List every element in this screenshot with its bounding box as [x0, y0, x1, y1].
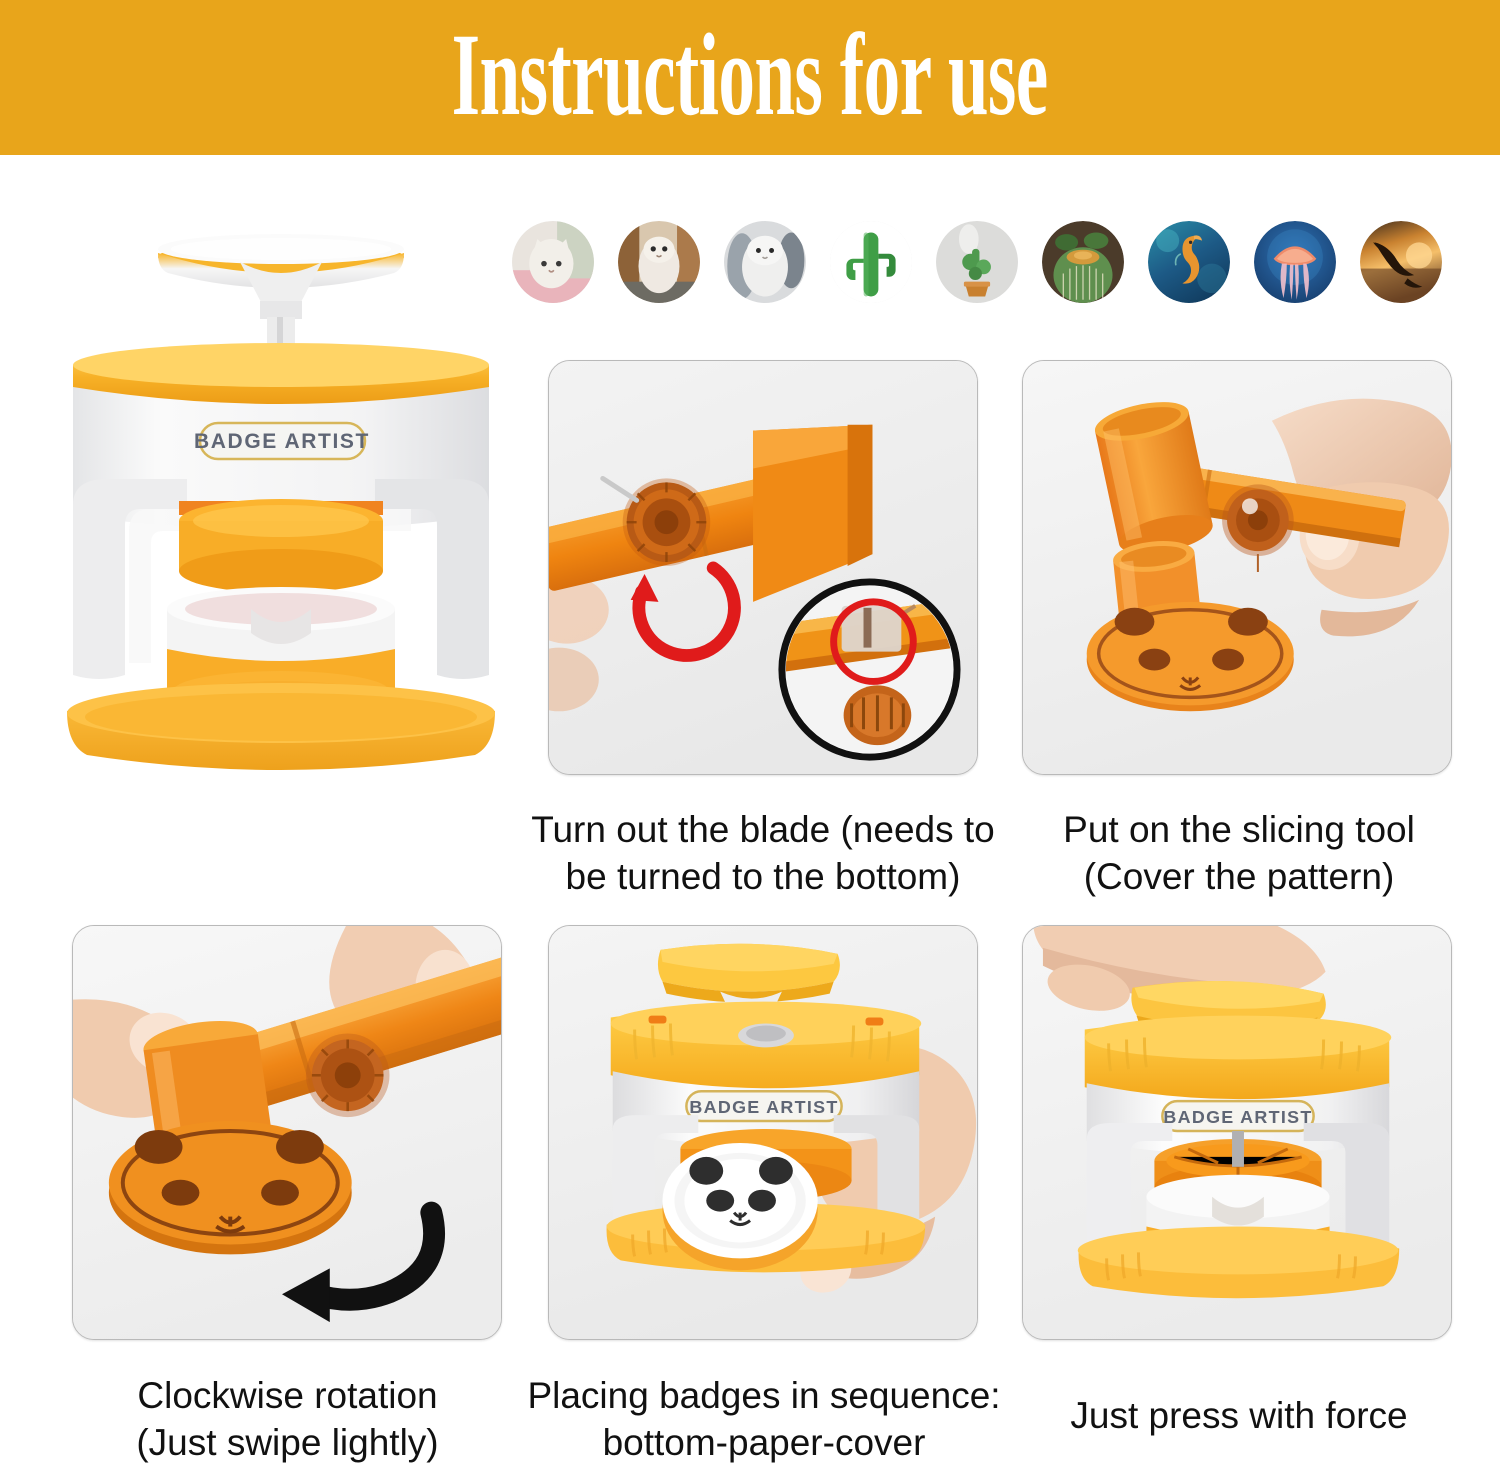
- caption-clockwise-rotation: Clockwise rotation (Just swipe lightly): [60, 1372, 515, 1467]
- caption-line: bottom-paper-cover: [522, 1419, 1006, 1466]
- page-title: Instructions for use: [452, 16, 1048, 134]
- step-panel-press-with-force: BADGE ARTIST: [1022, 925, 1452, 1340]
- instruction-sheet: Instructions for use: [0, 0, 1500, 1468]
- brand-label-text: BADGE ARTIST: [194, 430, 370, 453]
- badge-cactus-2: [936, 221, 1018, 303]
- badge-jellyfish: [1254, 221, 1336, 303]
- header-banner: Instructions for use: [0, 0, 1500, 155]
- panda-badge: [662, 1143, 817, 1270]
- badge-dolphin: [1360, 221, 1442, 303]
- caption-line: Clockwise rotation: [60, 1372, 515, 1419]
- step-panel-clockwise-rotation: [72, 925, 502, 1340]
- step-panel-place-badges: BADGE ARTIST: [548, 925, 978, 1340]
- svg-text:BADGE ARTIST: BADGE ARTIST: [689, 1097, 838, 1117]
- badge-seahorse: [1148, 221, 1230, 303]
- badge-cat-1: [512, 221, 594, 303]
- caption-line: Put on the slicing tool: [1000, 806, 1478, 853]
- panda-pattern-disc: [1087, 602, 1294, 711]
- badge-sample-strip: [512, 216, 1462, 308]
- caption-line: Turn out the blade (needs to: [524, 806, 1002, 853]
- panda-pattern-disc: [109, 1121, 352, 1254]
- badge-cat-2: [618, 221, 700, 303]
- step-panel-put-slicing-tool: [1022, 360, 1452, 775]
- hero-product-image: BADGE ARTIST: [55, 205, 507, 785]
- caption-line: be turned to the bottom): [524, 853, 1002, 900]
- badge-cactus-3: [1042, 221, 1124, 303]
- caption-put-slicing-tool: Put on the slicing tool (Cover the patte…: [1000, 806, 1478, 901]
- step-panel-turn-blade: [548, 360, 978, 775]
- badge-cactus-1: [830, 221, 912, 303]
- badge-cat-3: [724, 221, 806, 303]
- caption-turn-blade: Turn out the blade (needs to be turned t…: [524, 806, 1002, 901]
- caption-line: Placing badges in sequence:: [522, 1372, 1006, 1419]
- caption-line: (Just swipe lightly): [60, 1419, 515, 1466]
- caption-line: (Cover the pattern): [1000, 853, 1478, 900]
- caption-place-badges: Placing badges in sequence: bottom-paper…: [522, 1372, 1006, 1467]
- caption-press-with-force: Just press with force: [1000, 1392, 1478, 1439]
- caption-line: Just press with force: [1000, 1392, 1478, 1439]
- svg-text:BADGE ARTIST: BADGE ARTIST: [1163, 1107, 1312, 1127]
